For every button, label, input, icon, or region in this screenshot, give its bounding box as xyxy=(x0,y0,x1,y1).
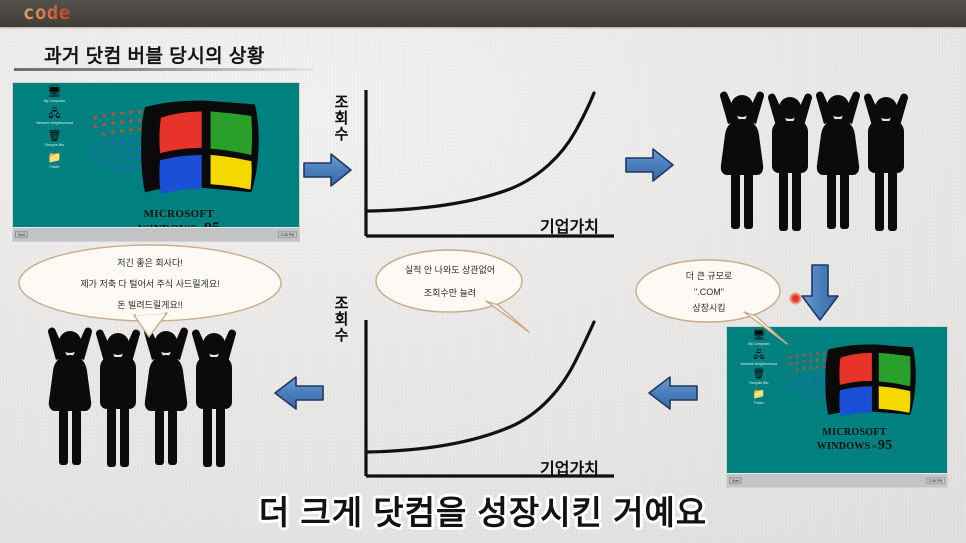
speech-bubble-company: 실적 안 나와도 상관없어 조회수만 늘려 xyxy=(374,248,532,334)
chart-bottom-ylabel: 조회수 xyxy=(333,296,350,343)
bubble-line-3: 상장시킴 xyxy=(636,301,782,316)
desktop-icon-label: Network Neighborhood xyxy=(735,362,783,366)
ylabel-text: 조회수 xyxy=(335,295,349,344)
network-neighborhood-icon: 🖧 xyxy=(735,351,783,361)
arrow-left-bottom-right xyxy=(646,375,698,411)
laser-pointer-dot xyxy=(789,292,802,305)
desktop-icon-recycle-bin[interactable]: 🗑 Recycle Bin xyxy=(735,370,783,385)
chart-top-ylabel: 조회수 xyxy=(333,95,350,142)
desktop-icon-folder[interactable]: 📁 Folder xyxy=(735,390,783,405)
speech-bubble-relisting: 더 큰 규모로 ".COM" 상장시킴 xyxy=(634,258,790,346)
bubble-line-1: 더 큰 규모로 xyxy=(636,269,782,284)
desktop-icon-network-neighborhood[interactable]: 🖧 Network Neighborhood xyxy=(735,351,783,366)
system-tray-clock: 2:45 PM xyxy=(278,231,297,237)
arrow-left-bottom-left xyxy=(272,375,324,411)
trademark-symbol: ™ xyxy=(872,446,877,452)
people-group-bottom-left xyxy=(40,324,246,476)
desktop-icon-label: My Computer xyxy=(23,99,86,103)
slide-caption: 더 크게 닷컴을 성장시킨 거예요 xyxy=(0,486,966,534)
system-tray-clock: 2:45 PM xyxy=(926,477,945,483)
arrow-down-right xyxy=(800,264,840,322)
arrow-right-top-left xyxy=(303,152,353,188)
win95-desktop: 🖥 My Computer 🖧 Network Neighborhood 🗑 R… xyxy=(13,83,299,227)
start-button[interactable]: Start xyxy=(729,477,742,483)
desktop-icon-network-neighborhood[interactable]: 🖧 Network Neighborhood xyxy=(23,109,86,125)
windows95-logo: MICROSOFT WINDOWS ™ 95 xyxy=(786,344,922,453)
app-topbar: code xyxy=(0,0,966,27)
windows95-logo: MICROSOFT WINDOWS ™ 95 xyxy=(90,100,267,236)
folder-icon: 📁 xyxy=(735,390,783,400)
microsoft-wordmark: MICROSOFT xyxy=(90,208,267,220)
topbar-divider xyxy=(0,27,966,29)
desktop-icon-folder[interactable]: 📁 Folder xyxy=(23,153,86,169)
win95-desktop-icons: 🖥 My Computer 🖧 Network Neighborhood 🗑 R… xyxy=(23,87,86,174)
bubble-line-3: 돈 빌려드릴게요!! xyxy=(16,298,284,313)
desktop-icon-label: Folder xyxy=(23,165,86,169)
ylabel-text: 조회수 xyxy=(335,94,349,143)
bubble-line-1: 실적 안 나와도 상관없어 xyxy=(376,263,524,278)
chart-bottom xyxy=(360,320,618,482)
windows-wordmark: WINDOWS xyxy=(817,441,871,452)
recycle-bin-icon: 🗑 xyxy=(735,370,783,380)
slide-canvas: code 과거 닷컴 버블 당시의 상황 🖥 My Computer 🖧 Net… xyxy=(0,0,966,543)
page-title-underline xyxy=(14,68,314,71)
windows95-screenshot-top: 🖥 My Computer 🖧 Network Neighborhood 🗑 R… xyxy=(12,82,300,242)
code-logo[interactable]: code xyxy=(23,3,71,24)
network-neighborhood-icon: 🖧 xyxy=(23,109,86,120)
arrow-right-top-right xyxy=(625,147,675,183)
windows-flag-icon xyxy=(90,100,267,206)
people-group-top-right xyxy=(712,88,918,240)
chart-top xyxy=(360,90,618,242)
desktop-icon-label: Recycle Bin xyxy=(23,143,86,147)
bubble-line-2: 조회수만 늘려 xyxy=(376,286,524,301)
windows-flag-icon xyxy=(786,344,922,426)
win95-taskbar[interactable]: Start 2:45 PM xyxy=(727,473,947,487)
version-number: 95 xyxy=(878,438,893,453)
start-button[interactable]: Start xyxy=(15,231,28,237)
microsoft-wordmark: MICROSOFT xyxy=(786,427,922,438)
desktop-icon-my-computer[interactable]: 🖥 My Computer xyxy=(23,87,86,103)
win95-taskbar[interactable]: Start 2:45 PM xyxy=(13,227,299,241)
win95-desktop: 🖥 My Computer 🖧 Network Neighborhood 🗑 R… xyxy=(727,327,947,473)
page-title: 과거 닷컴 버블 당시의 상황 xyxy=(44,41,265,68)
desktop-icon-label: Recycle Bin xyxy=(735,381,783,385)
speech-bubble-investors: 저긴 좋은 회사다! 제가 저축 다 털어서 주식 사드릴게요! 돈 빌려드릴게… xyxy=(16,243,284,338)
desktop-icon-label: Folder xyxy=(735,401,783,405)
desktop-icon-label: Network Neighborhood xyxy=(23,121,86,125)
bubble-line-2: ".COM" xyxy=(636,285,782,300)
folder-icon: 📁 xyxy=(23,153,86,164)
recycle-bin-icon: 🗑 xyxy=(23,131,86,142)
bubble-line-2: 제가 저축 다 털어서 주식 사드릴게요! xyxy=(16,277,284,292)
my-computer-icon: 🖥 xyxy=(23,87,86,98)
windows95-screenshot-bottom: 🖥 My Computer 🖧 Network Neighborhood 🗑 R… xyxy=(726,326,948,488)
bubble-line-1: 저긴 좋은 회사다! xyxy=(16,256,284,271)
desktop-icon-recycle-bin[interactable]: 🗑 Recycle Bin xyxy=(23,131,86,147)
